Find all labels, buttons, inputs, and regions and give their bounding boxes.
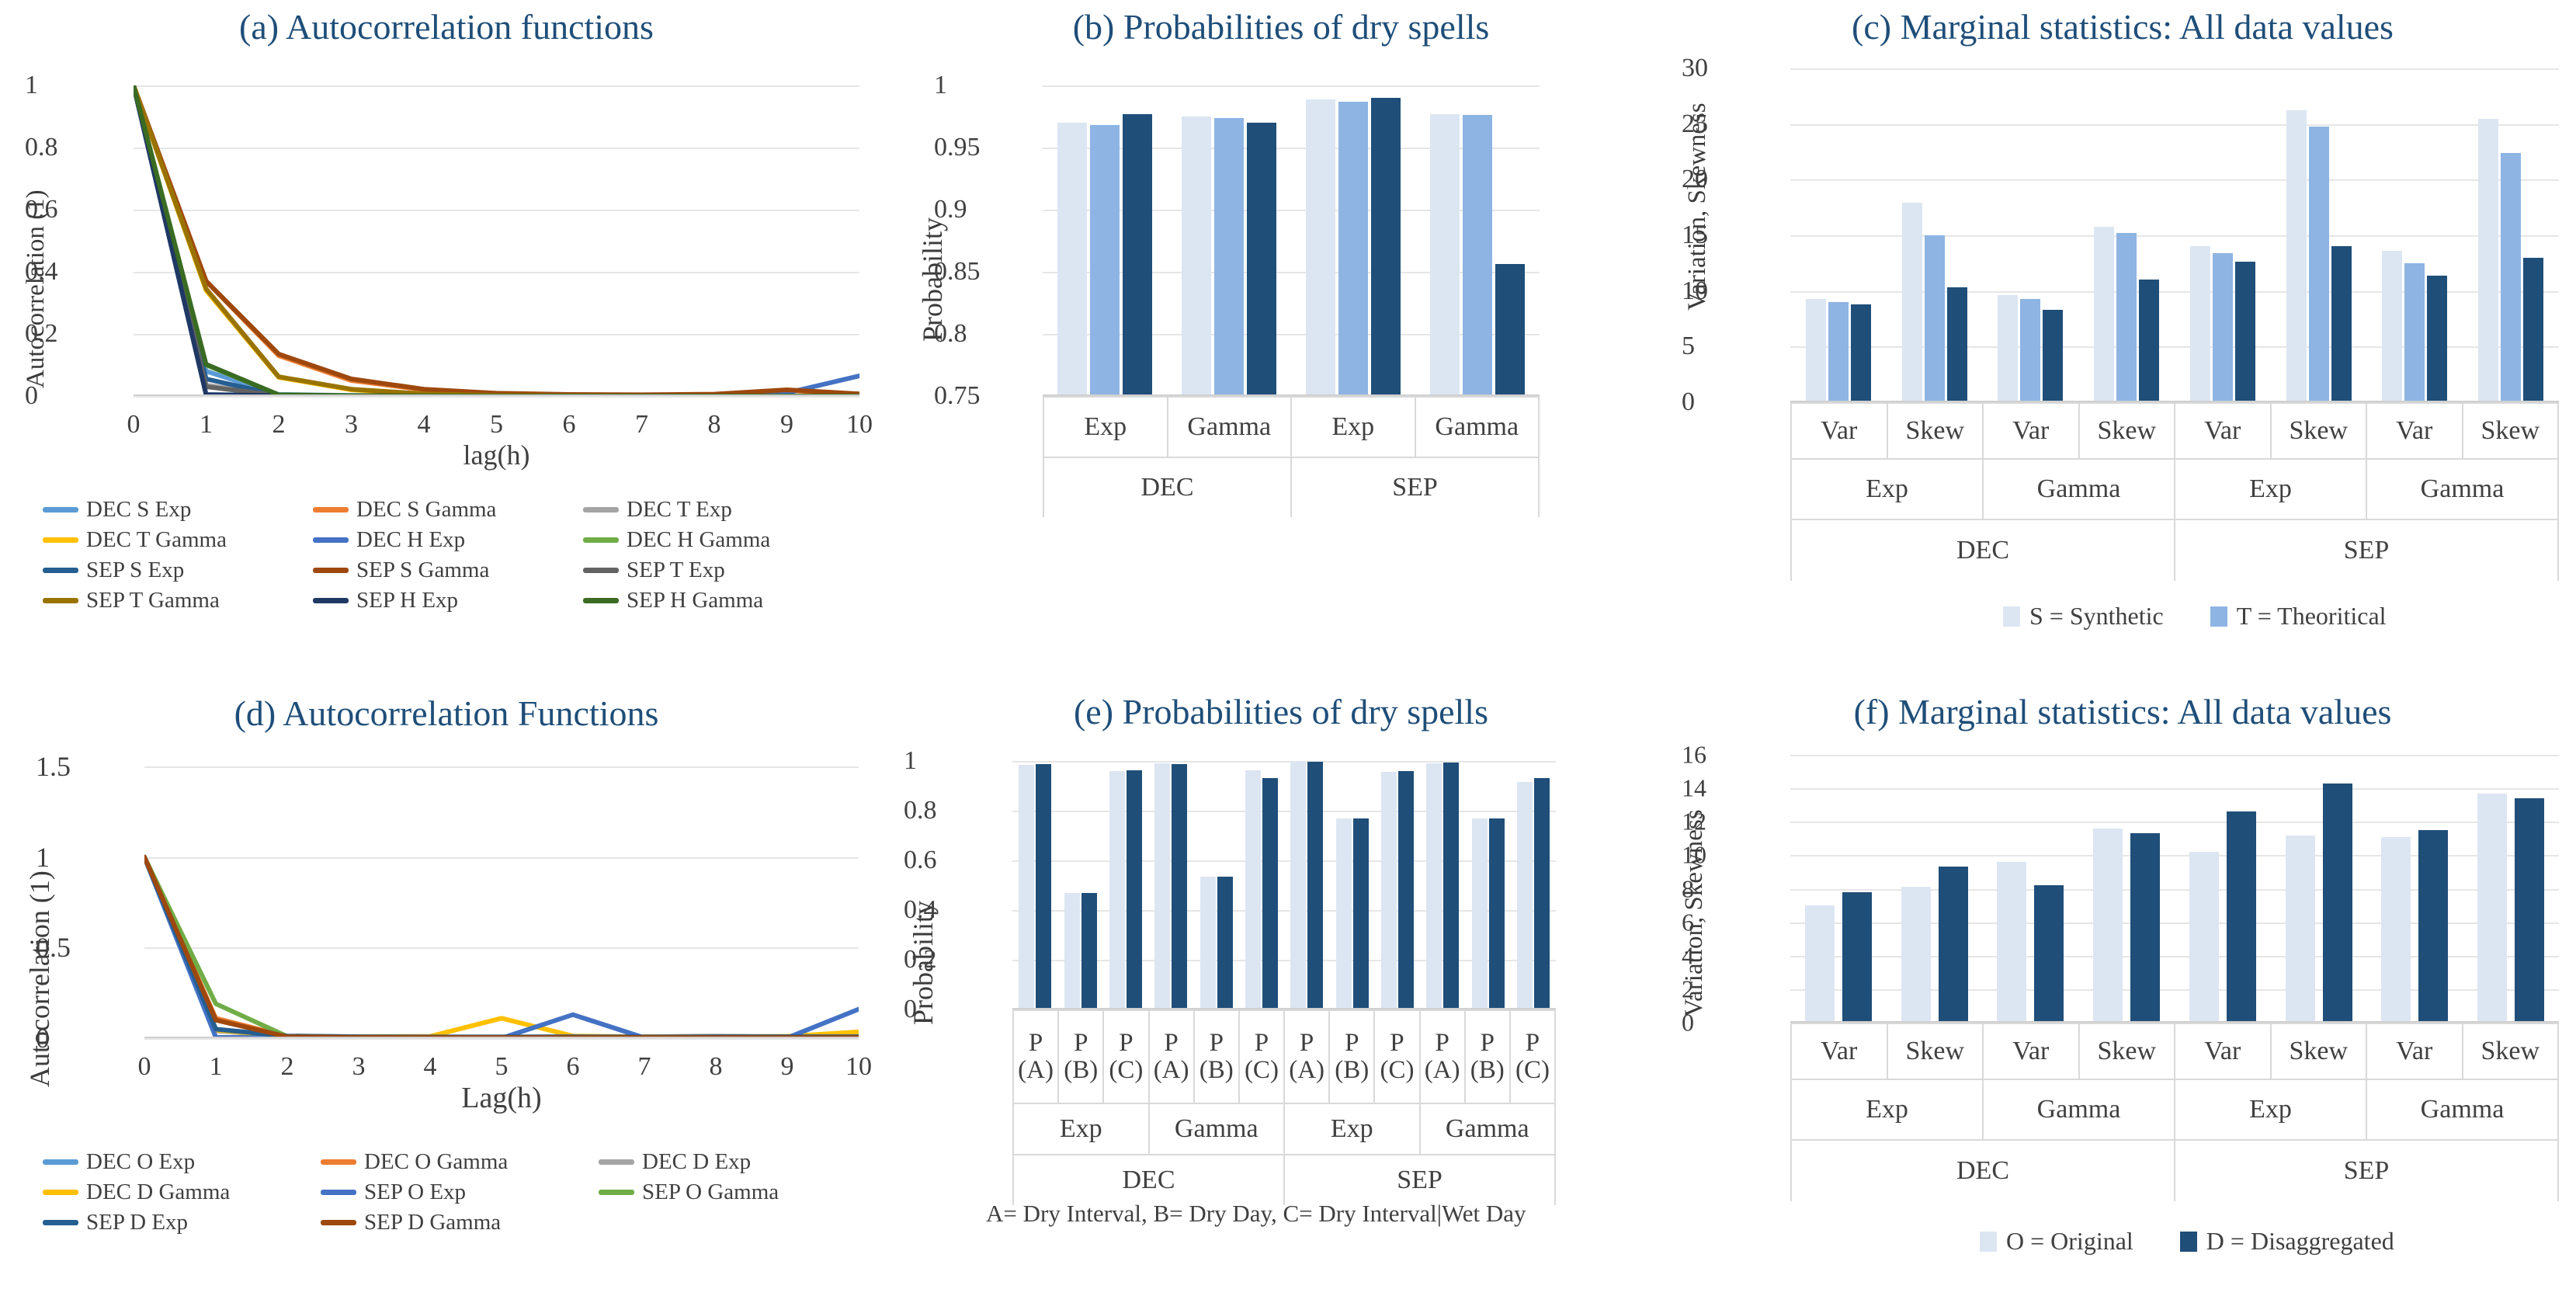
category-label: P(B)	[1466, 1011, 1511, 1103]
panel-f-category-table: VarSkewVarSkewVarSkewVarSkewExpGammaExpG…	[1790, 1023, 2559, 1201]
x-axis-tick: 0	[127, 410, 141, 440]
category-label: Gamma	[2367, 1080, 2557, 1139]
bar	[1939, 867, 1968, 1023]
bar	[1217, 877, 1233, 1009]
category-label: Skew	[2272, 404, 2368, 458]
category-row: VarSkewVarSkewVarSkewVarSkew	[1792, 1023, 2557, 1079]
legend-color-swatch-icon	[43, 537, 78, 543]
bar	[1307, 762, 1323, 1009]
y-axis-tick: 0.95	[934, 133, 1027, 162]
bar	[2478, 119, 2498, 403]
gridline	[1790, 179, 2559, 181]
legend-item[interactable]: SEP O Gamma	[599, 1180, 863, 1205]
legend-item-label: DEC D Gamma	[86, 1180, 230, 1205]
panel-f-plot-area	[1790, 755, 2559, 1023]
legend-item-label: DEC D Exp	[642, 1149, 751, 1175]
x-axis-tick: 3	[345, 410, 358, 440]
y-axis-tick: 2	[1682, 975, 1775, 1003]
category-label: P(B)	[1059, 1011, 1104, 1103]
x-axis-tick: 10	[846, 410, 873, 440]
x-axis-tick: 6	[563, 410, 576, 440]
panel-a-title: (a) Autocorrelation functions	[47, 6, 846, 47]
x-axis-tick: 1	[200, 410, 213, 440]
category-label: Exp	[2175, 1080, 2367, 1139]
category-row: DECSEP	[1792, 519, 2557, 581]
panel-d-title: (d) Autocorrelation Functions	[47, 693, 846, 734]
category-label: P(A)	[1421, 1011, 1466, 1103]
gridline	[1790, 822, 2559, 823]
y-axis-tick: 0.8	[904, 796, 997, 825]
category-label: Gamma	[2367, 460, 2557, 519]
y-axis-tick: 0.8	[25, 133, 118, 162]
legend-item-label: D = Disaggregated	[2206, 1227, 2394, 1256]
legend-item-label: DEC H Gamma	[627, 527, 770, 553]
category-label: Var	[1984, 404, 2080, 458]
panel-e-note: A= Dry Interval, B= Dry Day, C= Dry Inte…	[986, 1200, 1526, 1228]
category-label: P(B)	[1330, 1011, 1375, 1103]
legend-color-swatch-icon	[2003, 606, 2020, 627]
panel-c-category-table: VarSkewVarSkewVarSkewVarSkewExpGammaExpG…	[1790, 402, 2559, 581]
line-series	[134, 85, 859, 396]
category-label: Gamma	[1150, 1104, 1286, 1154]
category-label: Skew	[2272, 1024, 2368, 1079]
x-axis-tick: 1	[210, 1052, 223, 1082]
bar	[1443, 763, 1459, 1009]
bar	[1306, 99, 1335, 396]
y-axis-tick: 0	[904, 995, 997, 1024]
y-axis-tick: 1.5	[36, 750, 129, 783]
y-axis-tick: 14	[1682, 774, 1775, 803]
legend-item[interactable]: DEC S Exp	[43, 497, 299, 523]
bar	[2323, 784, 2352, 1023]
line-series	[144, 857, 859, 1038]
x-axis-tick: 9	[781, 1052, 794, 1082]
category-label: SEP	[2175, 1141, 2557, 1201]
bar	[2523, 258, 2543, 402]
panel-d-ylabel: Autocorrelation (1)	[23, 870, 56, 1087]
x-axis-tick: 0	[138, 1052, 151, 1082]
bar	[1036, 764, 1051, 1009]
bar	[1430, 114, 1460, 396]
bar	[2043, 310, 2063, 402]
category-row: VarSkewVarSkewVarSkewVarSkew	[1792, 402, 2557, 458]
line-series	[144, 857, 859, 1037]
legend-color-swatch-icon	[583, 568, 619, 573]
line-series	[134, 85, 859, 396]
bar	[1828, 302, 1849, 402]
legend-color-swatch-icon	[43, 1190, 78, 1195]
bar	[2227, 811, 2256, 1023]
category-label: P(A)	[1014, 1011, 1059, 1103]
x-axis-line	[134, 394, 859, 396]
panel-a: (a) Autocorrelation functions Autocorrel…	[0, 0, 893, 683]
line-series	[134, 85, 859, 396]
bar	[1463, 115, 1492, 396]
y-axis-tick: 0	[1682, 387, 1775, 417]
bar	[1842, 892, 1872, 1023]
bar	[2382, 251, 2402, 402]
bar	[1214, 118, 1244, 396]
bar	[1109, 771, 1125, 1009]
bar	[1182, 116, 1211, 396]
legend-color-swatch-icon	[313, 598, 349, 603]
legend-item[interactable]: SEP T Exp	[583, 558, 839, 583]
bar	[1290, 761, 1306, 1009]
bar	[2034, 885, 2064, 1023]
gridline	[1012, 811, 1556, 812]
bar	[1262, 778, 1278, 1009]
category-label: P(B)	[1195, 1011, 1240, 1103]
panel-e-plot-area	[1012, 761, 1556, 1009]
bar	[2189, 852, 2219, 1023]
x-axis-tick: 4	[424, 1052, 437, 1082]
bar	[1998, 295, 2018, 402]
category-row: P(A)P(B)P(C)P(A)P(B)P(C)P(A)P(B)P(C)P(A)…	[1014, 1009, 1554, 1103]
x-axis-tick: 8	[708, 410, 721, 440]
legend-color-swatch-icon	[599, 1159, 634, 1165]
legend-item[interactable]: DEC D Exp	[599, 1149, 863, 1175]
legend-color-swatch-icon	[321, 1190, 356, 1195]
line-series-group	[144, 766, 859, 1038]
panel-a-legend: DEC S ExpDEC S GammaDEC T ExpDEC T Gamma…	[43, 497, 839, 613]
category-row: ExpGammaExpGamma	[1792, 1079, 2557, 1139]
bar	[2139, 280, 2159, 402]
legend-color-swatch-icon	[583, 598, 619, 603]
category-label: SEP	[1285, 1155, 1554, 1205]
y-axis-tick: 0.75	[934, 381, 1027, 411]
legend-color-swatch-icon	[583, 507, 619, 512]
legend-item[interactable]: T = Theoritical	[2210, 602, 2387, 631]
y-axis-tick: 15	[1682, 221, 1775, 250]
panel-c-legend: S = SyntheticT = Theoritical	[2003, 602, 2387, 631]
legend-item[interactable]: DEC T Gamma	[43, 527, 299, 553]
bar	[1245, 770, 1261, 1009]
bar	[1495, 264, 1525, 396]
gridline	[1790, 68, 2559, 70]
legend-item[interactable]: O = Original	[1980, 1227, 2133, 1256]
x-axis-tick: 10	[845, 1052, 872, 1082]
panel-c-title: (c) Marginal statistics: All data values	[1669, 6, 2576, 47]
y-axis-tick: 12	[1682, 808, 1775, 836]
legend-color-swatch-icon	[43, 598, 78, 603]
bar	[2020, 299, 2040, 402]
legend-item-label: SEP T Exp	[627, 558, 725, 583]
bar	[1064, 893, 1080, 1009]
bar	[1057, 123, 1087, 396]
category-label: P(C)	[1240, 1011, 1285, 1103]
legend-item-label: SEP D Exp	[86, 1210, 188, 1235]
bar	[1472, 818, 1488, 1009]
category-label: DEC	[1792, 1141, 2175, 1201]
category-row: DECSEP	[1014, 1154, 1554, 1205]
gridline	[1790, 124, 2559, 126]
category-label: Skew	[2080, 404, 2176, 458]
bar	[1489, 818, 1505, 1009]
panel-c: (c) Marginal statistics: All data values…	[1669, 0, 2576, 683]
bar	[2130, 833, 2160, 1023]
panel-a-xlabel: lag(h)	[134, 439, 859, 471]
x-axis-line	[144, 1037, 859, 1038]
gridline	[1012, 761, 1556, 763]
y-axis-tick: 0.9	[934, 195, 1027, 224]
bar	[1019, 765, 1034, 1009]
panel-e-title: (e) Probabilities of dry spells	[893, 691, 1669, 732]
legend-item-label: O = Original	[2006, 1227, 2133, 1256]
bar	[1426, 763, 1442, 1009]
category-label: Gamma	[1984, 1080, 2175, 1139]
line-series	[144, 857, 859, 1037]
line-series	[134, 85, 859, 396]
category-label: Skew	[2463, 404, 2558, 458]
bar	[1247, 123, 1276, 396]
line-series	[134, 85, 859, 396]
legend-item[interactable]: DEC S Gamma	[313, 497, 569, 523]
legend-item-label: SEP H Exp	[356, 588, 458, 613]
category-label: Var	[1792, 1024, 1888, 1079]
line-series	[134, 85, 859, 396]
category-label: Gamma	[1984, 460, 2175, 519]
category-label: Exp	[1792, 1080, 1984, 1139]
legend-item-label: SEP S Exp	[86, 558, 184, 583]
y-axis-tick: 5	[1682, 332, 1775, 361]
category-label: Gamma	[1168, 398, 1293, 457]
y-axis-tick: 10	[1682, 841, 1775, 870]
panel-b: (b) Probabilities of dry spells Probabil…	[893, 0, 1669, 683]
y-axis-tick: 0.2	[25, 319, 118, 349]
bar	[1371, 98, 1401, 396]
gridline	[1790, 788, 2559, 790]
line-series	[144, 857, 859, 1038]
bar	[1172, 764, 1187, 1009]
bar	[2381, 837, 2411, 1023]
legend-item[interactable]: SEP O Exp	[321, 1180, 585, 1205]
bar	[2286, 110, 2307, 402]
legend-color-swatch-icon	[321, 1159, 356, 1165]
bar	[1154, 763, 1170, 1009]
bar	[2404, 263, 2425, 402]
bar	[2190, 246, 2210, 402]
y-axis-tick: 0.6	[904, 846, 997, 875]
y-axis-tick: 0	[36, 1022, 129, 1055]
y-axis-tick: 1	[904, 746, 997, 776]
figure-grid: (a) Autocorrelation functions Autocorrel…	[0, 0, 2576, 1296]
bar	[1127, 770, 1142, 1009]
legend-color-swatch-icon	[313, 507, 349, 512]
panel-d-plot-area	[144, 766, 859, 1038]
bar	[1338, 102, 1368, 396]
legend-item[interactable]: SEP S Exp	[43, 558, 299, 583]
category-label: Skew	[2080, 1024, 2176, 1079]
legend-item[interactable]: SEP D Gamma	[321, 1210, 585, 1235]
x-axis-tick: 5	[495, 1052, 509, 1082]
y-axis-tick: 0.8	[934, 319, 1027, 349]
category-label: DEC	[1014, 1155, 1285, 1205]
line-series	[144, 857, 859, 1037]
legend-color-swatch-icon	[599, 1190, 634, 1195]
y-axis-tick: 1	[934, 71, 1027, 100]
legend-item-label: SEP H Gamma	[627, 588, 763, 613]
category-label: SEP	[2175, 520, 2557, 581]
legend-item-label: DEC T Gamma	[86, 527, 227, 553]
legend-color-swatch-icon	[43, 1159, 78, 1165]
category-row: ExpGammaExpGamma	[1792, 458, 2557, 519]
line-series	[134, 85, 859, 396]
legend-item[interactable]: SEP H Gamma	[583, 588, 839, 613]
legend-color-swatch-icon	[583, 537, 619, 543]
bar	[2213, 253, 2233, 402]
category-label: P(A)	[1150, 1011, 1195, 1103]
legend-color-swatch-icon	[2210, 606, 2227, 627]
category-label: DEC	[1044, 458, 1292, 517]
x-axis-tick: 7	[635, 410, 648, 440]
legend-item[interactable]: DEC O Gamma	[321, 1149, 585, 1175]
line-series	[144, 857, 859, 1037]
category-label: Exp	[2175, 460, 2367, 519]
bar	[2501, 153, 2521, 402]
legend-item[interactable]: DEC H Exp	[313, 527, 569, 553]
bar	[1398, 771, 1414, 1009]
legend-item[interactable]: SEP S Gamma	[313, 558, 569, 583]
bar	[2286, 836, 2315, 1023]
legend-item[interactable]: SEP T Gamma	[43, 588, 299, 613]
category-label: Skew	[1888, 1024, 1984, 1079]
category-label: Exp	[1292, 398, 1416, 457]
legend-item-label: DEC H Exp	[356, 527, 465, 553]
bar	[1353, 818, 1369, 1009]
category-label: Gamma	[1416, 398, 1539, 457]
y-axis-tick: 4	[1682, 941, 1775, 970]
y-axis-tick: 1	[36, 841, 129, 874]
bar	[2093, 829, 2123, 1023]
bar	[1805, 905, 1835, 1023]
bar	[1090, 125, 1120, 396]
legend-item-label: T = Theoritical	[2237, 602, 2387, 631]
line-series	[134, 85, 859, 396]
legend-item-label: DEC O Gamma	[364, 1149, 508, 1175]
y-axis-tick: 0.5	[36, 931, 129, 964]
x-axis-tick: 3	[352, 1052, 366, 1082]
line-series	[134, 85, 859, 396]
panel-a-plot-area	[134, 85, 859, 396]
legend-color-swatch-icon	[43, 1220, 78, 1225]
panel-b-title: (b) Probabilities of dry spells	[893, 6, 1669, 47]
bar	[2116, 233, 2137, 402]
category-label: P(C)	[1104, 1011, 1149, 1103]
legend-item-label: DEC S Exp	[86, 497, 191, 523]
y-axis-tick: 0.85	[934, 257, 1027, 287]
x-axis-tick: 7	[638, 1052, 651, 1082]
category-label: Var	[1984, 1024, 2080, 1079]
category-label: Var	[2175, 404, 2272, 458]
panel-e-category-table: P(A)P(B)P(C)P(A)P(B)P(C)P(A)P(B)P(C)P(A)…	[1012, 1009, 1556, 1205]
panel-c-plot-area	[1790, 68, 2559, 402]
y-axis-tick: 0.6	[25, 195, 118, 224]
category-label: Exp	[1792, 460, 1984, 519]
y-axis-tick: 16	[1682, 741, 1775, 770]
line-series	[134, 85, 859, 394]
panel-b-plot-area	[1043, 85, 1540, 396]
legend-item[interactable]: DEC D Gamma	[43, 1180, 307, 1205]
x-axis-tick: 2	[281, 1052, 294, 1082]
legend-item-label: DEC S Gamma	[356, 497, 496, 523]
panel-f-legend: O = OriginalD = Disaggregated	[1980, 1227, 2394, 1256]
legend-color-swatch-icon	[321, 1220, 356, 1225]
gridline	[1043, 85, 1540, 87]
legend-item[interactable]: S = Synthetic	[2003, 602, 2164, 631]
y-axis-tick: 1	[25, 71, 118, 100]
bar	[1534, 778, 1550, 1009]
category-label: DEC	[1792, 520, 2175, 581]
legend-item-label: SEP T Gamma	[86, 588, 220, 613]
y-axis-tick: 0	[1682, 1009, 1775, 1037]
bar	[1851, 304, 1871, 402]
x-axis-tick: 9	[780, 410, 793, 440]
legend-item[interactable]: SEP H Exp	[313, 588, 569, 613]
legend-item[interactable]: DEC H Gamma	[583, 527, 839, 553]
bar	[2094, 227, 2114, 402]
category-label: Exp	[1014, 1104, 1150, 1154]
line-series	[134, 85, 859, 395]
legend-color-swatch-icon	[43, 568, 78, 573]
bar	[1336, 818, 1352, 1009]
legend-color-swatch-icon	[1980, 1232, 1997, 1252]
x-axis-tick: 5	[490, 410, 503, 440]
bar	[2331, 246, 2352, 402]
y-axis-tick: 0.4	[25, 257, 118, 287]
legend-item-label: DEC T Exp	[627, 497, 732, 523]
bar	[1517, 782, 1533, 1009]
legend-color-swatch-icon	[313, 568, 349, 573]
bar	[2427, 276, 2447, 402]
category-label: Skew	[2463, 1024, 2558, 1079]
category-label: P(C)	[1375, 1011, 1420, 1103]
category-row: ExpGammaExpGamma	[1044, 396, 1538, 457]
gridline	[1790, 755, 2559, 756]
legend-color-swatch-icon	[313, 537, 349, 543]
category-label: Var	[2175, 1024, 2272, 1079]
legend-item-label: SEP S Gamma	[356, 558, 489, 583]
bar	[1902, 203, 1922, 402]
legend-color-swatch-icon	[43, 507, 78, 512]
panel-b-category-table: ExpGammaExpGammaDECSEP	[1043, 396, 1540, 517]
legend-item[interactable]: DEC T Exp	[583, 497, 839, 523]
bar	[1081, 893, 1097, 1009]
legend-item-label: SEP O Gamma	[642, 1180, 779, 1205]
bar	[2418, 830, 2448, 1023]
bar	[1925, 235, 1945, 402]
bar	[1806, 299, 1826, 402]
category-label: Gamma	[1421, 1104, 1555, 1154]
y-axis-tick: 20	[1682, 165, 1775, 194]
x-axis-tick: 2	[273, 410, 286, 440]
panel-d-legend: DEC O ExpDEC O GammaDEC D ExpDEC D Gamma…	[43, 1149, 863, 1235]
line-series	[144, 857, 859, 1038]
category-label: Var	[2367, 1024, 2463, 1079]
bar	[1123, 114, 1152, 396]
legend-item[interactable]: D = Disaggregated	[2180, 1227, 2394, 1256]
bar	[1997, 862, 2026, 1023]
legend-item[interactable]: SEP D Exp	[43, 1210, 307, 1235]
line-series-group	[134, 85, 859, 396]
legend-item[interactable]: DEC O Exp	[43, 1149, 307, 1175]
legend-color-swatch-icon	[2180, 1232, 2197, 1252]
category-label: Skew	[1888, 404, 1984, 458]
gridline	[144, 1038, 859, 1040]
bar	[1947, 287, 1967, 402]
category-row: DECSEP	[1792, 1139, 2557, 1201]
panel-f: (f) Marginal statistics: All data values…	[1669, 683, 2576, 1296]
y-axis-tick: 0.2	[904, 945, 997, 975]
